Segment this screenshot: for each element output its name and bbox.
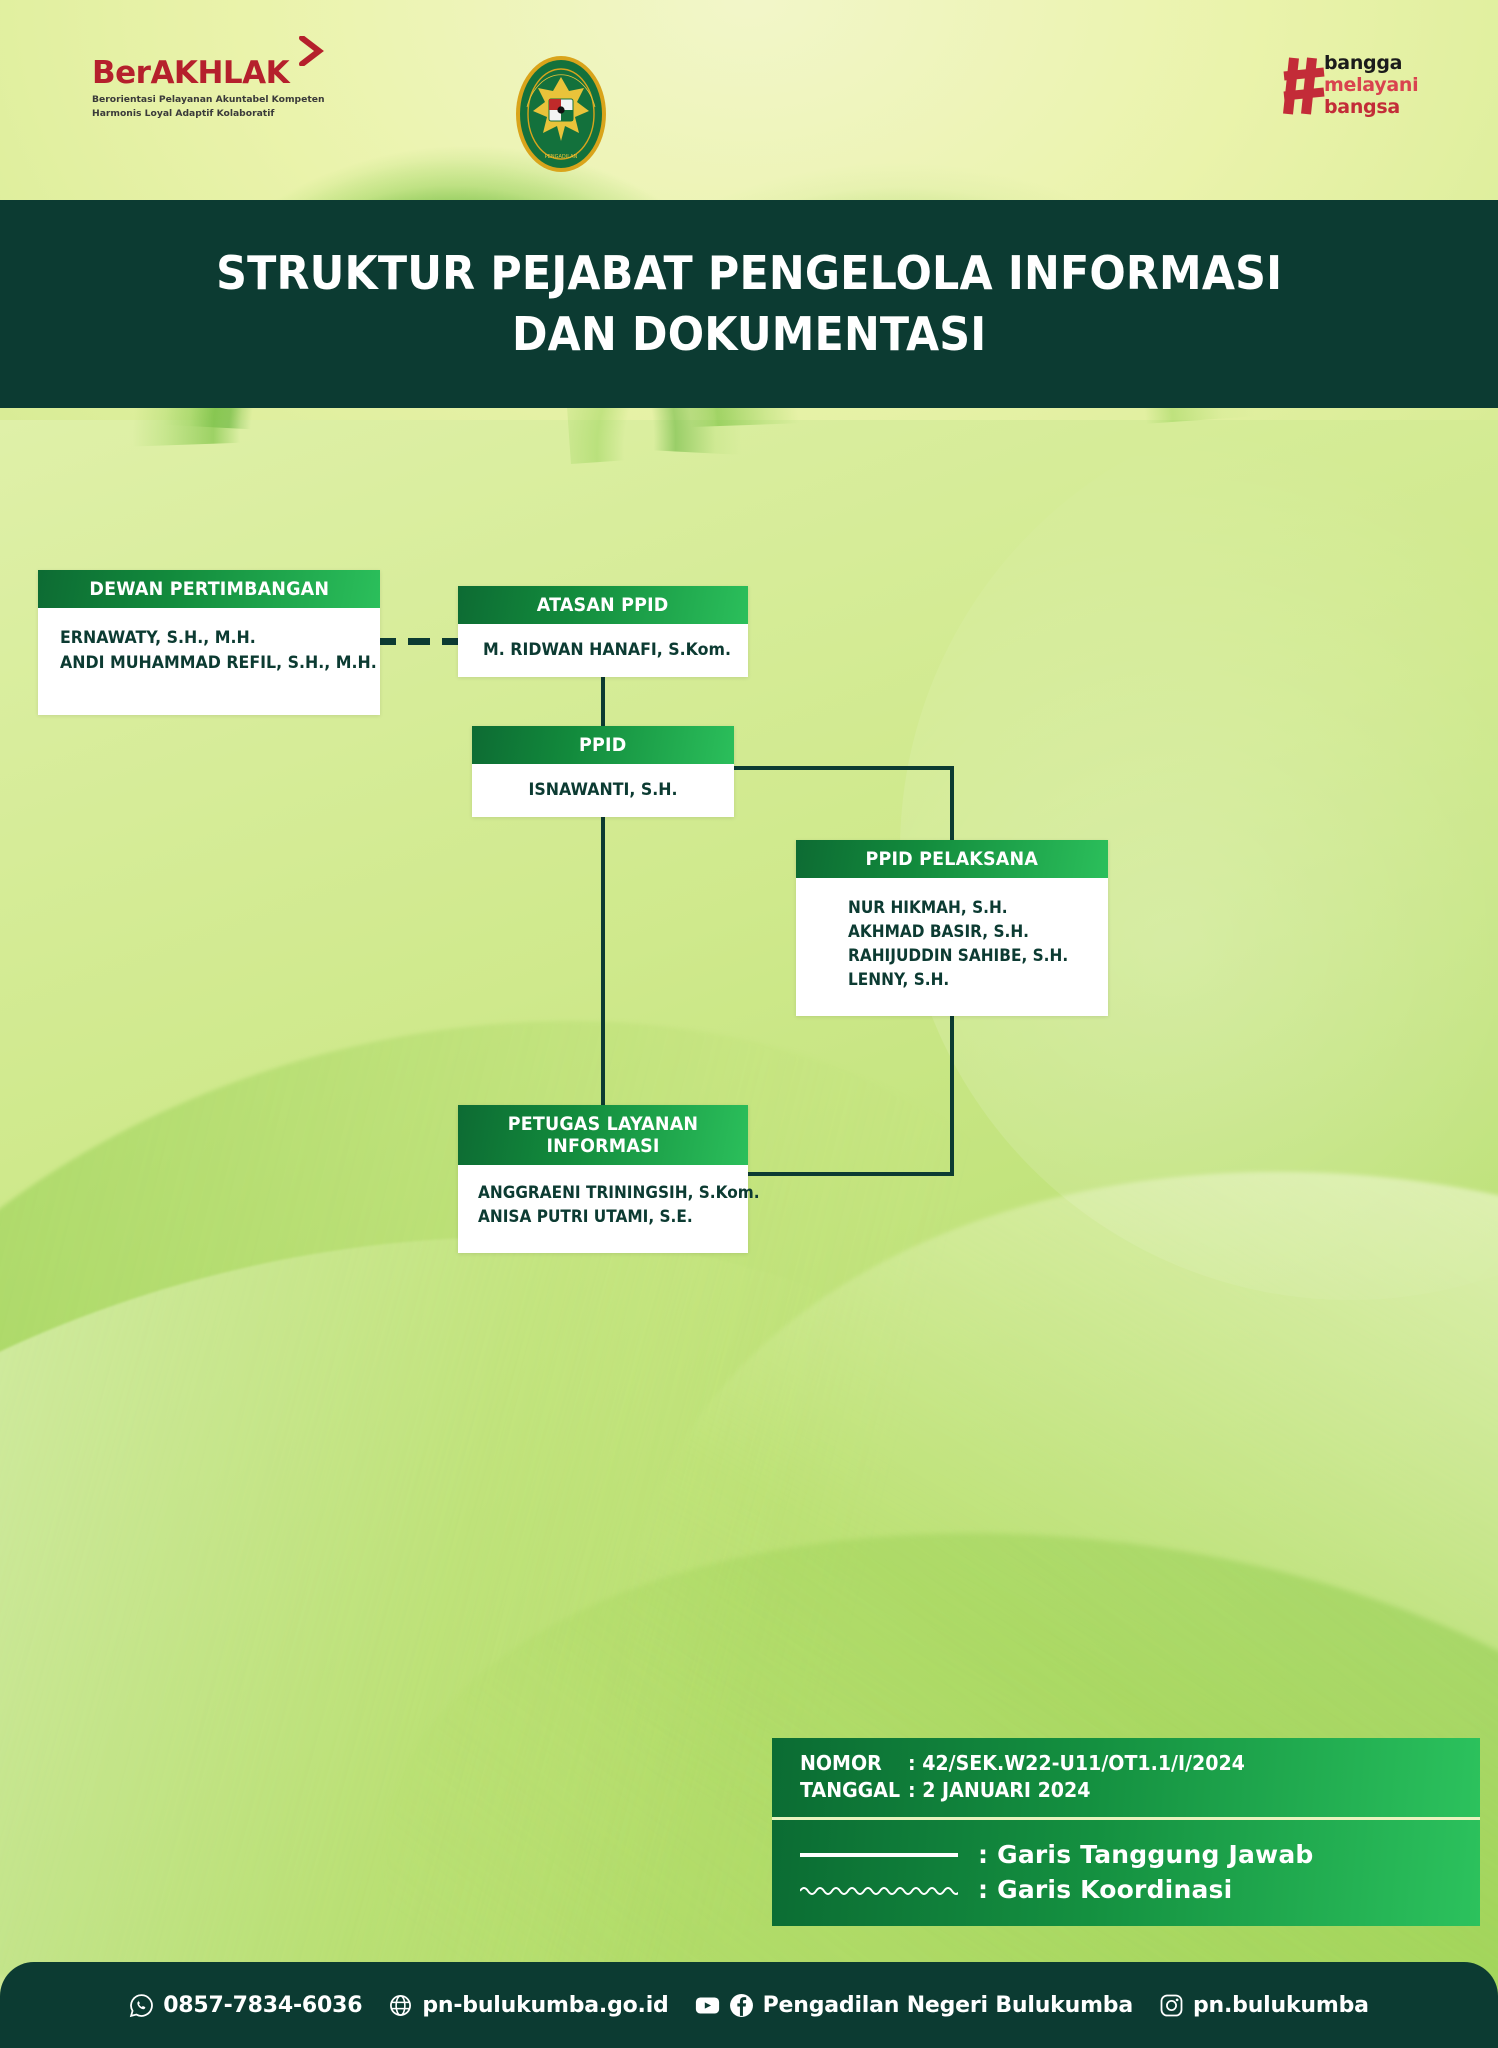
legend-wavy-row: : Garis Koordinasi	[800, 1875, 1480, 1904]
page-title-line-1: STRUKTUR PEJABAT PENGELOLA INFORMASI	[216, 246, 1282, 300]
footer-instagram[interactable]: pn.bulukumba	[1159, 1993, 1369, 2018]
bangga-line-2: melayani	[1324, 74, 1418, 96]
node-pelaksana-body: NUR HIKMAH, S.H. AKHMAD BASIR, S.H. RAHI…	[796, 878, 1108, 1016]
berakhlak-logo: BerAKHLAK Berorientasi Pelayanan Akuntab…	[92, 58, 302, 120]
footer-phone-text: 0857-7834-6036	[163, 1993, 362, 2018]
node-dewan-header: DEWAN PERTIMBANGAN	[38, 570, 380, 608]
node-pelaksana-member-1: NUR HIKMAH, S.H.	[848, 896, 1075, 920]
legend-wavy-text: : Garis Koordinasi	[978, 1875, 1232, 1904]
node-pelaksana-member-2: AKHMAD BASIR, S.H.	[848, 920, 1075, 944]
node-dewan-member-2: ANDI MUHAMMAD REFIL, S.H., M.H.	[60, 651, 343, 676]
globe-icon	[388, 1993, 413, 2018]
node-petugas-member-2: ANISA PUTRI UTAMI, S.E.	[478, 1205, 714, 1229]
node-dewan-member-1: ERNAWATY, S.H., M.H.	[60, 626, 343, 651]
legend-key: : Garis Tanggung Jawab : Garis Koordinas…	[772, 1817, 1480, 1926]
footer-website[interactable]: pn-bulukumba.go.id	[388, 1993, 668, 2018]
footer-bar: 0857-7834-6036 pn-bulukumba.go.id Pengad…	[0, 1962, 1498, 2048]
bangga-melayani-bangsa-logo: bangga melayani bangsa	[1282, 50, 1422, 126]
node-atasan-body: M. RIDWAN HANAFI, S.Kom.	[458, 624, 748, 677]
legend-nomor-label: NOMOR	[800, 1750, 903, 1778]
edge-ppid-to-petugas	[601, 798, 605, 1108]
svg-text:PENGADILAN: PENGADILAN	[545, 154, 578, 160]
node-dewan-pertimbangan[interactable]: DEWAN PERTIMBANGAN ERNAWATY, S.H., M.H. …	[38, 570, 380, 715]
legend-decree: NOMOR : 42/SEK.W22-U11/OT1.1/I/2024 TANG…	[772, 1738, 1480, 1817]
chevron-right-icon	[298, 36, 324, 66]
node-ppid-body: ISNAWANTI, S.H.	[472, 764, 734, 817]
berakhlak-wordmark: BerAKHLAK	[92, 58, 289, 89]
node-pelaksana-header: PPID PELAKSANA	[796, 840, 1108, 878]
node-petugas-member-1: ANGGRAENI TRININGSIH, S.Kom.	[478, 1181, 714, 1205]
node-petugas-header: PETUGAS LAYANAN INFORMASI	[458, 1105, 748, 1165]
berakhlak-tagline-line1: Berorientasi Pelayanan Akuntabel Kompete…	[92, 94, 302, 107]
node-dewan-body: ERNAWATY, S.H., M.H. ANDI MUHAMMAD REFIL…	[38, 608, 380, 715]
node-ppid-header: PPID	[472, 726, 734, 764]
page-title-line-2: DAN DOKUMENTASI	[512, 307, 986, 361]
legend-tanggal-label: TANGGAL	[800, 1777, 903, 1805]
bangga-line-1: bangga	[1324, 52, 1418, 74]
node-petugas-layanan-informasi[interactable]: PETUGAS LAYANAN INFORMASI ANGGRAENI TRIN…	[458, 1105, 748, 1253]
edge-dewan-to-atasan-dashed	[374, 638, 466, 645]
edge-ppid-to-right	[732, 766, 954, 770]
footer-social-text: Pengadilan Negeri Bulukumba	[763, 1993, 1133, 2018]
legend-solid-sample	[800, 1848, 960, 1862]
legend-tanggal-row: TANGGAL : 2 JANUARI 2024	[800, 1777, 1480, 1805]
node-pelaksana-member-4: LENNY, S.H.	[848, 968, 1075, 992]
node-ppid-member-1: ISNAWANTI, S.H.	[496, 778, 710, 803]
hash-icon	[1282, 56, 1326, 116]
bangga-line-3: bangsa	[1324, 96, 1418, 118]
edge-right-to-petugas	[744, 1172, 954, 1176]
page-title: STRUKTUR PEJABAT PENGELOLA INFORMASI DAN…	[216, 243, 1282, 364]
node-atasan-header: ATASAN PPID	[458, 586, 748, 624]
footer-website-text: pn-bulukumba.go.id	[422, 1993, 668, 2018]
legend-box: NOMOR : 42/SEK.W22-U11/OT1.1/I/2024 TANG…	[772, 1738, 1480, 1926]
poster-root: BerAKHLAK Berorientasi Pelayanan Akuntab…	[0, 0, 1498, 2048]
org-chart: DEWAN PERTIMBANGAN ERNAWATY, S.H., M.H. …	[0, 408, 1498, 1868]
node-ppid[interactable]: PPID ISNAWANTI, S.H.	[472, 726, 734, 817]
node-atasan-ppid[interactable]: ATASAN PPID M. RIDWAN HANAFI, S.Kom.	[458, 586, 748, 677]
legend-nomor-row: NOMOR : 42/SEK.W22-U11/OT1.1/I/2024	[800, 1750, 1480, 1778]
legend-tanggal-value: : 2 JANUARI 2024	[908, 1777, 1090, 1805]
node-pelaksana-member-3: RAHIJUDDIN SAHIBE, S.H.	[848, 944, 1075, 968]
footer-instagram-text: pn.bulukumba	[1193, 1993, 1369, 2018]
legend-solid-row: : Garis Tanggung Jawab	[800, 1840, 1480, 1869]
footer-phone[interactable]: 0857-7834-6036	[129, 1993, 362, 2018]
berakhlak-tagline-line2: Harmonis Loyal Adaptif Kolaboratif	[92, 108, 302, 121]
node-ppid-pelaksana[interactable]: PPID PELAKSANA NUR HIKMAH, S.H. AKHMAD B…	[796, 840, 1108, 1016]
legend-wavy-sample	[800, 1883, 960, 1897]
footer-social[interactable]: Pengadilan Negeri Bulukumba	[695, 1993, 1133, 2018]
legend-solid-text: : Garis Tanggung Jawab	[978, 1840, 1314, 1869]
court-seal-icon: PENGADILAN	[515, 55, 607, 173]
bangga-lines: bangga melayani bangsa	[1324, 52, 1418, 119]
node-petugas-body: ANGGRAENI TRININGSIH, S.Kom. ANISA PUTRI…	[458, 1165, 748, 1253]
youtube-icon	[695, 1993, 720, 2018]
whatsapp-icon	[129, 1993, 154, 2018]
instagram-icon	[1159, 1993, 1184, 2018]
wavy-line-icon	[800, 1884, 958, 1896]
title-band: STRUKTUR PEJABAT PENGELOLA INFORMASI DAN…	[0, 200, 1498, 408]
facebook-icon	[729, 1993, 754, 2018]
node-atasan-member-1: M. RIDWAN HANAFI, S.Kom.	[483, 638, 723, 663]
legend-nomor-value: : 42/SEK.W22-U11/OT1.1/I/2024	[908, 1750, 1245, 1778]
